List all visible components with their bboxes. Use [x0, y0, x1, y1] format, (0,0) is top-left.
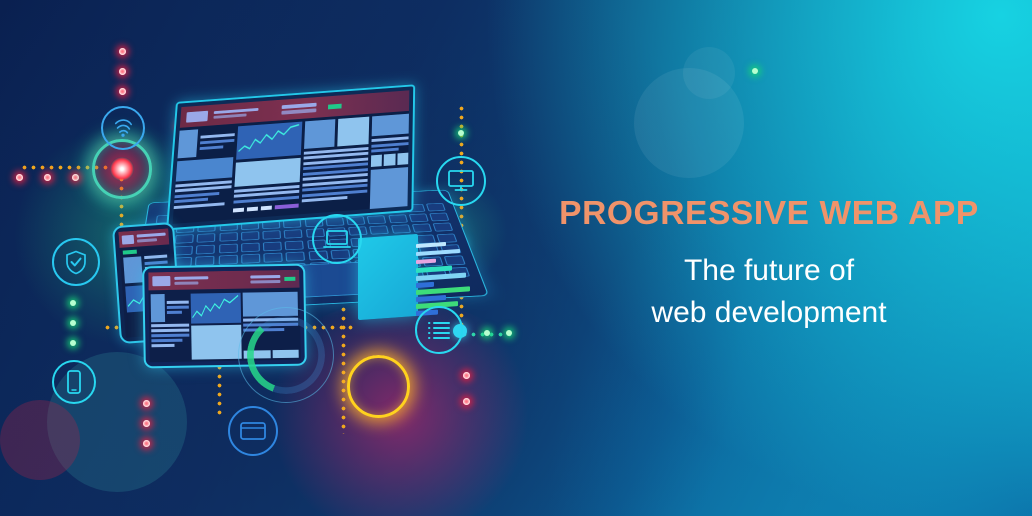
dashboard-topbar-line [214, 108, 259, 114]
tablet-text-line [250, 275, 280, 279]
accent-dot-red-4 [16, 174, 23, 181]
smartphone-text-line [137, 233, 166, 238]
dashboard-card [397, 153, 408, 165]
tablet-badge [284, 277, 295, 281]
dashboard-topbar-line [281, 108, 316, 114]
laptop-key [409, 214, 429, 223]
dashboard-chip [247, 207, 258, 212]
laptop-key [174, 245, 194, 255]
dashboard-card [178, 129, 199, 158]
laptop-key [263, 252, 282, 262]
subtitle-line-2: web development [530, 292, 1008, 335]
laptop-screen-dashboard [173, 90, 410, 224]
dashboard-column [173, 127, 235, 224]
dashboard-card [234, 157, 300, 186]
laptop-lid [166, 84, 415, 230]
bg-bubble-maroon-bottom-left [0, 400, 80, 480]
dashboard-card [371, 114, 409, 137]
tablet-text-line [174, 276, 208, 280]
laptop-icon-ring[interactable] [312, 214, 362, 264]
tablet-text-line [174, 281, 198, 284]
dashboard-line-chart [236, 122, 302, 160]
tablet-text-line [167, 311, 183, 314]
page-title: PROGRESSIVE WEB APP [530, 196, 1008, 233]
bg-bubble-large-top-right [634, 68, 744, 178]
progressive-web-app-banner: PROGRESSIVE WEB APP The future of web de… [0, 0, 1032, 516]
wifi-icon [112, 118, 134, 138]
browser-window-icon [239, 421, 267, 441]
dashboard-card [370, 167, 409, 209]
dashboard-text-line [371, 148, 399, 153]
dashboard-text-line [174, 192, 219, 198]
dashboard-card [176, 157, 233, 182]
data-stream-panel [358, 234, 418, 320]
bg-bubble-small-top-right [683, 47, 735, 99]
dashboard-text-line [174, 198, 208, 203]
monitor-icon [447, 169, 475, 193]
accent-dot-green-2 [70, 320, 76, 326]
laptop-key [367, 215, 387, 224]
neon-red-core [110, 157, 134, 181]
dashboard-text-line [200, 139, 234, 144]
tablet-text-line [167, 306, 190, 309]
tablet-text-line [250, 280, 280, 284]
accent-dot-red-3 [119, 88, 126, 95]
list-icon [427, 320, 451, 340]
laptop-key [436, 233, 457, 242]
list-icon-ring[interactable] [415, 306, 463, 354]
laptop-key [241, 242, 260, 252]
tablet-text-line [151, 333, 189, 337]
laptop-key [263, 241, 282, 251]
banner-copy: PROGRESSIVE WEB APP The future of web de… [530, 196, 1008, 335]
dashboard-text-line [201, 133, 235, 138]
dashboard-badge [328, 103, 342, 109]
dashboard-card [371, 155, 382, 167]
dashboard-card [304, 119, 336, 149]
neon-yellow-ring [347, 355, 410, 418]
progress-donut-chart [247, 316, 325, 394]
laptop-key [219, 243, 238, 253]
accent-dot-red-7 [143, 400, 150, 407]
tablet-text-line [151, 328, 189, 332]
mobile-icon-ring[interactable] [52, 360, 96, 404]
laptop-key [429, 213, 449, 222]
mobile-icon [67, 370, 81, 394]
laptop-key [285, 240, 304, 250]
accent-dot-green-6 [506, 330, 512, 336]
dashboard-column [301, 117, 369, 215]
tablet-logo [152, 276, 170, 286]
laptop-key [391, 225, 411, 234]
smartphone-text-line [145, 260, 168, 265]
dashboard-grid [173, 114, 409, 224]
accent-dot-red-8 [143, 420, 150, 427]
dashboard-logo [186, 110, 208, 122]
tablet-text-line [151, 338, 182, 342]
laptop-key [175, 234, 194, 243]
laptop-key [426, 203, 446, 211]
shield-check-icon [65, 250, 87, 275]
tablet-text-line [151, 344, 174, 347]
accent-dot-red-5 [44, 174, 51, 181]
dashboard-card [384, 154, 395, 166]
accent-dot-red-11 [463, 398, 470, 405]
laptop-key [388, 215, 408, 224]
accent-dot-red-9 [143, 440, 150, 447]
laptop-key [369, 226, 389, 235]
dashboard-text-line [371, 142, 408, 148]
dashboard-chip [260, 206, 271, 211]
smartphone-text-line [144, 255, 167, 260]
dashboard-text-line [301, 196, 347, 202]
tablet-text-line [151, 323, 189, 327]
laptop-key [284, 230, 303, 239]
subtitle-line-1: The future of [684, 254, 854, 287]
laptop-key [433, 223, 454, 232]
smartphone-logo [122, 234, 135, 244]
dashboard-topbar-line [213, 114, 246, 119]
laptop-key [196, 244, 215, 254]
accent-dot-green-1 [70, 300, 76, 306]
tablet-card [191, 325, 242, 360]
accent-dot-red-6 [72, 174, 79, 181]
monitor-icon-ring[interactable] [436, 156, 486, 206]
laptop-key [412, 224, 432, 233]
dashboard-card [338, 117, 370, 147]
accent-dot-green-4 [458, 130, 464, 136]
accent-dot-red-2 [119, 68, 126, 75]
laptop-key [218, 255, 237, 265]
dashboard-column-chart [232, 122, 302, 220]
smartphone-card [123, 256, 143, 283]
laptop-key [263, 231, 282, 240]
dashboard-text-line [200, 145, 224, 150]
laptop-key [241, 232, 259, 241]
dashboard-chip [233, 208, 244, 213]
tablet-text-line [166, 301, 189, 304]
accent-dot-green-5 [484, 330, 490, 336]
smartphone-badge [123, 250, 137, 255]
tablet-line-chart [191, 293, 241, 324]
accent-dot-green-3 [70, 340, 76, 346]
shield-check-icon-ring[interactable] [52, 238, 100, 286]
accent-dot-red-1 [119, 48, 126, 55]
page-subtitle: The future of web development [530, 250, 1008, 335]
browser-window-icon-ring[interactable] [228, 406, 278, 456]
laptop-key [444, 255, 466, 265]
dashboard-text-line [174, 202, 225, 209]
laptop-icon [323, 228, 351, 250]
laptop-key [286, 251, 306, 261]
bg-green-sparkle [752, 68, 758, 74]
laptop-key [241, 253, 260, 263]
dashboard-column [370, 114, 409, 209]
dashboard-chip [274, 204, 298, 210]
wifi-icon-ring[interactable] [101, 106, 145, 150]
tablet-card [151, 294, 165, 322]
tablet-topbar [148, 270, 299, 291]
smartphone-text-line [137, 238, 157, 242]
laptop-key [219, 233, 238, 242]
accent-dot-red-10 [463, 372, 470, 379]
laptop-key [197, 234, 216, 243]
data-bar [416, 295, 446, 302]
